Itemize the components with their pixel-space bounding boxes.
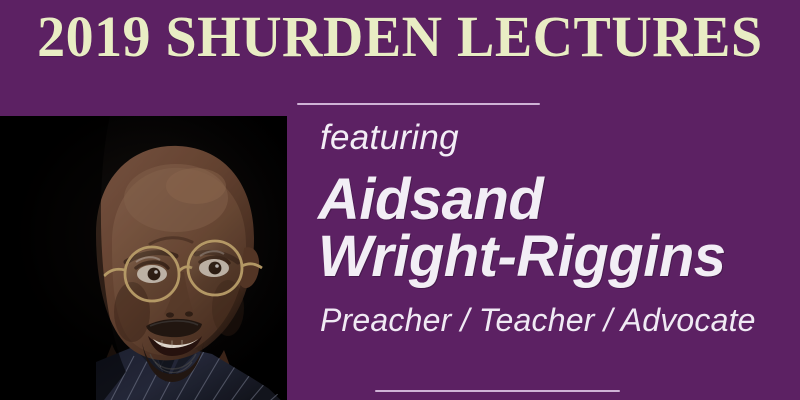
divider-top [297,103,540,105]
title-band: 2019 SHURDEN LECTURES [0,0,800,100]
divider-bottom [375,390,620,392]
speaker-portrait-illustration [0,116,287,400]
lecture-promo-banner: 2019 SHURDEN LECTURES [0,0,800,400]
speaker-portrait [0,116,287,400]
featuring-label: featuring [320,120,459,155]
speaker-roles: Preacher / Teacher / Advocate [320,304,756,336]
speaker-info-panel: featuring Aidsand Wright-Riggins Preache… [320,96,790,400]
page-title: 2019 SHURDEN LECTURES [37,8,762,66]
speaker-name: Aidsand Wright-Riggins [318,172,726,286]
